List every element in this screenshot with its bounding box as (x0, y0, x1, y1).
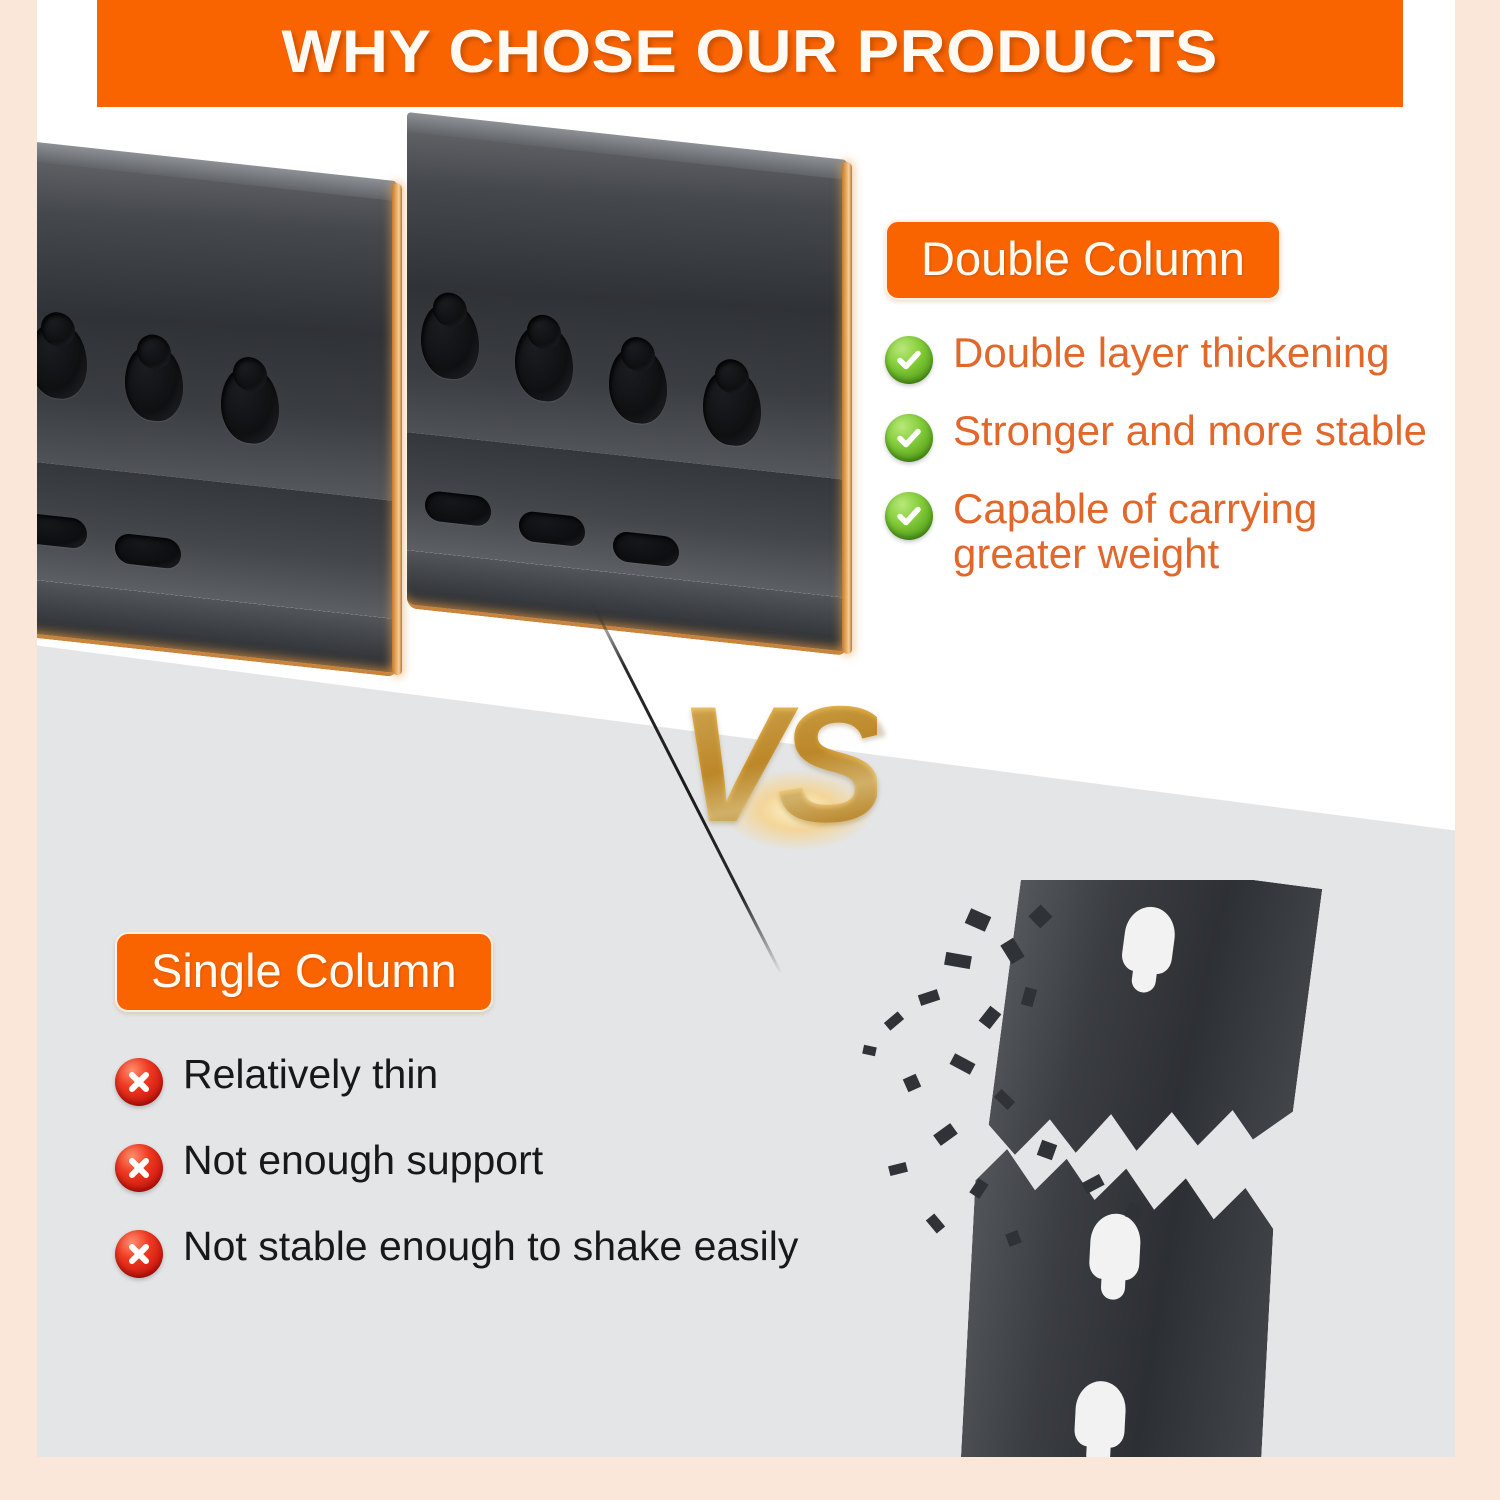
cross-circle-icon (115, 1058, 163, 1106)
post-keyhole (1088, 1212, 1141, 1281)
feature-label: Relatively thin (183, 1052, 438, 1096)
rail-right (407, 132, 847, 180)
cross-circle-icon (115, 1230, 163, 1278)
rail-slot (125, 344, 183, 424)
check-circle-icon (885, 414, 933, 462)
infographic-page: VS Double Column Double layer thickening (0, 0, 1500, 1500)
broken-post-upper-piece (982, 880, 1323, 1216)
check-circle-icon (885, 336, 933, 384)
list-item: Relatively thin (115, 1052, 915, 1106)
versus-graphic: VS (637, 630, 967, 930)
rail-face (407, 132, 847, 480)
rail-slot (609, 346, 667, 426)
versus-label: VS (677, 670, 877, 859)
debris-fragment (965, 908, 992, 932)
feature-label: Not enough support (183, 1138, 543, 1182)
title-banner: WHY CHOSE OUR PRODUCTS (97, 0, 1403, 107)
double-column-badge: Double Column (885, 220, 1281, 300)
single-column-badge: Single Column (115, 932, 493, 1012)
rail-slot-small (37, 512, 87, 549)
list-item: Stronger and more stable (885, 408, 1455, 462)
rail-slot-small (425, 490, 491, 527)
rail-slot (703, 368, 761, 448)
post-keyhole (1120, 904, 1178, 976)
feature-label: Not stable enough to shake easily (183, 1224, 798, 1268)
debris-fragment (933, 1123, 958, 1146)
double-column-feature-list: Double layer thickening Stronger and mor… (885, 330, 1455, 577)
double-column-product-photo (37, 140, 867, 645)
rail-bend-edge (842, 161, 852, 654)
debris-fragment (1037, 1140, 1058, 1161)
page-title: WHY CHOSE OUR PRODUCTS (282, 17, 1218, 86)
content-card: VS Double Column Double layer thickening (37, 0, 1455, 1457)
debris-fragment (926, 1213, 945, 1233)
double-column-section: Double Column Double layer thickening St… (885, 220, 1455, 601)
check-circle-icon (885, 492, 933, 540)
list-item: Capable of carrying greater weight (885, 486, 1455, 577)
list-item: Not stable enough to shake easily (115, 1224, 915, 1278)
double-column-badge-label: Double Column (921, 232, 1245, 285)
rail-face (37, 159, 397, 501)
single-column-badge-label: Single Column (151, 944, 457, 997)
cross-circle-icon (115, 1144, 163, 1192)
broken-column-product-photo (827, 880, 1455, 1457)
rail-bend-edge (392, 183, 402, 676)
debris-fragment (979, 1006, 1002, 1030)
debris-fragment (944, 952, 972, 969)
list-item: Double layer thickening (885, 330, 1455, 384)
rail-slot (221, 366, 279, 446)
rail-slot-small (613, 530, 679, 567)
debris-fragment (1081, 1174, 1104, 1194)
list-item: Not enough support (115, 1138, 915, 1192)
rail-slot (37, 321, 87, 401)
feature-label: Double layer thickening (953, 330, 1390, 375)
rail-slot-small (115, 533, 181, 570)
rail-slot (421, 302, 479, 382)
rail-slot-small (519, 510, 585, 547)
single-column-feature-list: Relatively thin Not enough support Not s… (115, 1052, 915, 1278)
post-keyhole (1074, 1380, 1127, 1449)
debris-fragment (950, 1053, 976, 1074)
debris-fragment (918, 989, 940, 1006)
rail-left (37, 159, 397, 201)
feature-label: Stronger and more stable (953, 408, 1427, 453)
rail-slot (515, 324, 573, 404)
single-column-section: Single Column Relatively thin Not enough… (115, 932, 915, 1310)
broken-post-lower-piece (961, 1134, 1278, 1457)
feature-label: Capable of carrying greater weight (953, 486, 1383, 577)
